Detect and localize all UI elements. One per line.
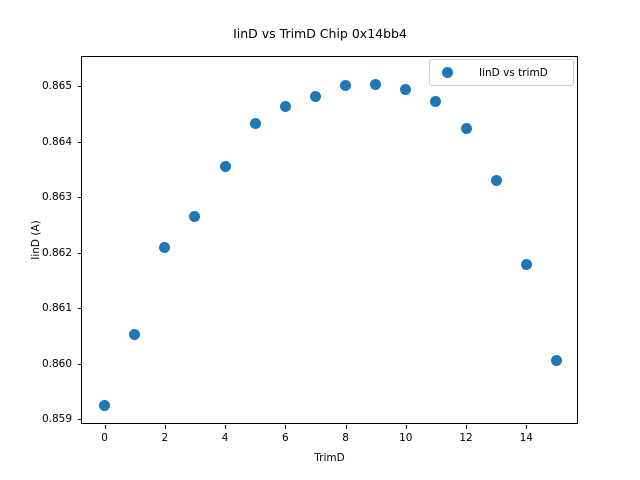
legend-entry-label: IinD vs trimD bbox=[479, 67, 548, 79]
x-tick-mark bbox=[165, 425, 166, 429]
x-tick-label: 2 bbox=[145, 432, 185, 444]
x-tick-label: 4 bbox=[205, 432, 245, 444]
data-point bbox=[521, 259, 532, 270]
x-tick-mark bbox=[526, 425, 527, 429]
y-tick-mark bbox=[78, 419, 82, 420]
x-tick-mark bbox=[225, 425, 226, 429]
data-point bbox=[220, 161, 231, 172]
x-tick-label: 6 bbox=[265, 432, 305, 444]
y-axis-label: IinD (A) bbox=[30, 140, 42, 340]
x-tick-mark bbox=[406, 425, 407, 429]
data-point bbox=[310, 91, 321, 102]
x-tick-mark bbox=[105, 425, 106, 429]
y-tick-mark bbox=[78, 364, 82, 365]
scatter-series-iind-vs-trimd bbox=[82, 57, 577, 423]
x-tick-mark bbox=[466, 425, 467, 429]
y-axis-label-wrapper: IinD (A) bbox=[16, 56, 36, 424]
x-tick-label: 14 bbox=[506, 432, 546, 444]
data-point bbox=[159, 242, 170, 253]
x-tick-label: 0 bbox=[85, 432, 125, 444]
y-tick-mark bbox=[78, 86, 82, 87]
data-point bbox=[189, 211, 200, 222]
y-tick-mark bbox=[78, 308, 82, 309]
data-point bbox=[551, 355, 562, 366]
data-point bbox=[370, 79, 381, 90]
data-point bbox=[461, 123, 472, 134]
data-point bbox=[250, 118, 261, 129]
data-point bbox=[340, 80, 351, 91]
page-title: IinD vs TrimD Chip 0x14bb4 bbox=[0, 26, 640, 41]
y-tick-mark bbox=[78, 142, 82, 143]
legend-marker-icon bbox=[442, 67, 453, 78]
legend[interactable]: IinD vs trimD bbox=[429, 59, 574, 86]
data-point bbox=[430, 96, 441, 107]
data-point bbox=[491, 175, 502, 186]
plot-area: 02468101214 0.8590.8600.8610.8620.8630.8… bbox=[81, 56, 578, 424]
data-point bbox=[400, 84, 411, 95]
matplotlib-figure: IinD vs TrimD Chip 0x14bb4 02468101214 0… bbox=[0, 0, 640, 480]
data-point bbox=[99, 400, 110, 411]
data-point bbox=[129, 329, 140, 340]
x-tick-label: 10 bbox=[386, 432, 426, 444]
x-axis-label: TrimD bbox=[81, 452, 578, 464]
data-point bbox=[280, 101, 291, 112]
x-tick-label: 8 bbox=[326, 432, 366, 444]
x-tick-mark bbox=[285, 425, 286, 429]
x-tick-mark bbox=[346, 425, 347, 429]
y-tick-mark bbox=[78, 197, 82, 198]
x-tick-label: 12 bbox=[446, 432, 486, 444]
y-tick-mark bbox=[78, 253, 82, 254]
